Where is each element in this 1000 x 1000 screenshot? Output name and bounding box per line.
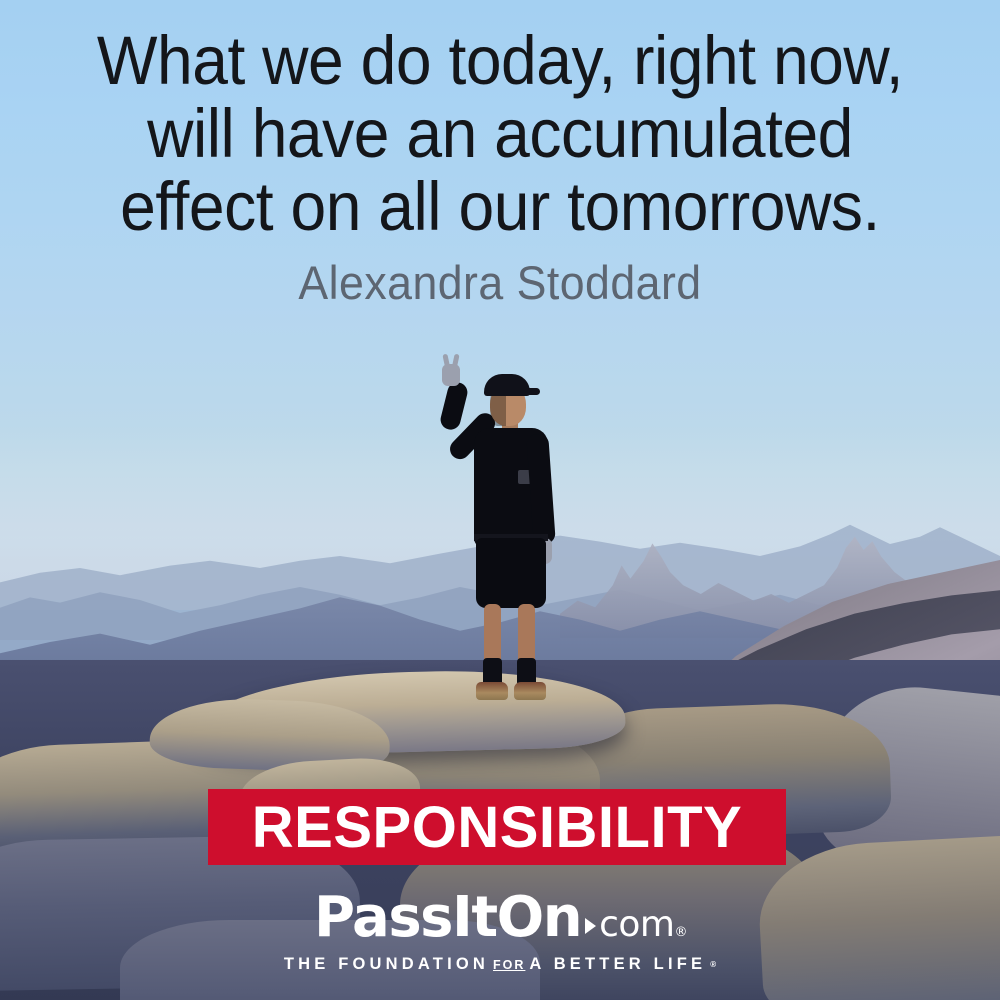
- raised-forearm: [438, 380, 469, 431]
- quote-text: What we do today, right now, will have a…: [35, 24, 965, 243]
- quote-poster: What we do today, right now, will have a…: [0, 0, 1000, 1000]
- tagline-registered-mark: ®: [710, 960, 716, 969]
- quote-line-3: effect on all our tomorrows.: [35, 170, 965, 243]
- cap-brim: [518, 388, 540, 395]
- value-banner-label: RESPONSIBILITY: [252, 794, 742, 861]
- logo-on: On: [497, 890, 581, 946]
- shorts: [476, 538, 546, 608]
- passiton-logo: PassItOncom® THE FOUNDATION FOR A BETTER…: [0, 890, 1000, 974]
- hiker-figure: [418, 352, 588, 702]
- quote-line-1: What we do today, right now,: [35, 24, 965, 97]
- logo-pass: Pass: [314, 890, 452, 946]
- value-banner: RESPONSIBILITY: [208, 789, 786, 865]
- right-boot: [514, 682, 546, 700]
- logo-tagline: THE FOUNDATION FOR A BETTER LIFE ®: [0, 955, 1000, 974]
- quote-author: Alexandra Stoddard: [25, 255, 975, 310]
- logo-it: It: [452, 890, 497, 946]
- left-boot: [476, 682, 508, 700]
- logo-tld: com: [599, 907, 674, 943]
- tagline-part-1: THE FOUNDATION: [284, 955, 489, 974]
- tagline-for: FOR: [493, 958, 525, 972]
- tagline-part-2: A BETTER LIFE: [529, 955, 706, 974]
- logo-wordmark: PassItOncom®: [314, 890, 686, 946]
- quote-line-2: will have an accumulated: [35, 97, 965, 170]
- logo-registered-mark: ®: [674, 926, 686, 939]
- play-triangle-icon: [585, 918, 596, 934]
